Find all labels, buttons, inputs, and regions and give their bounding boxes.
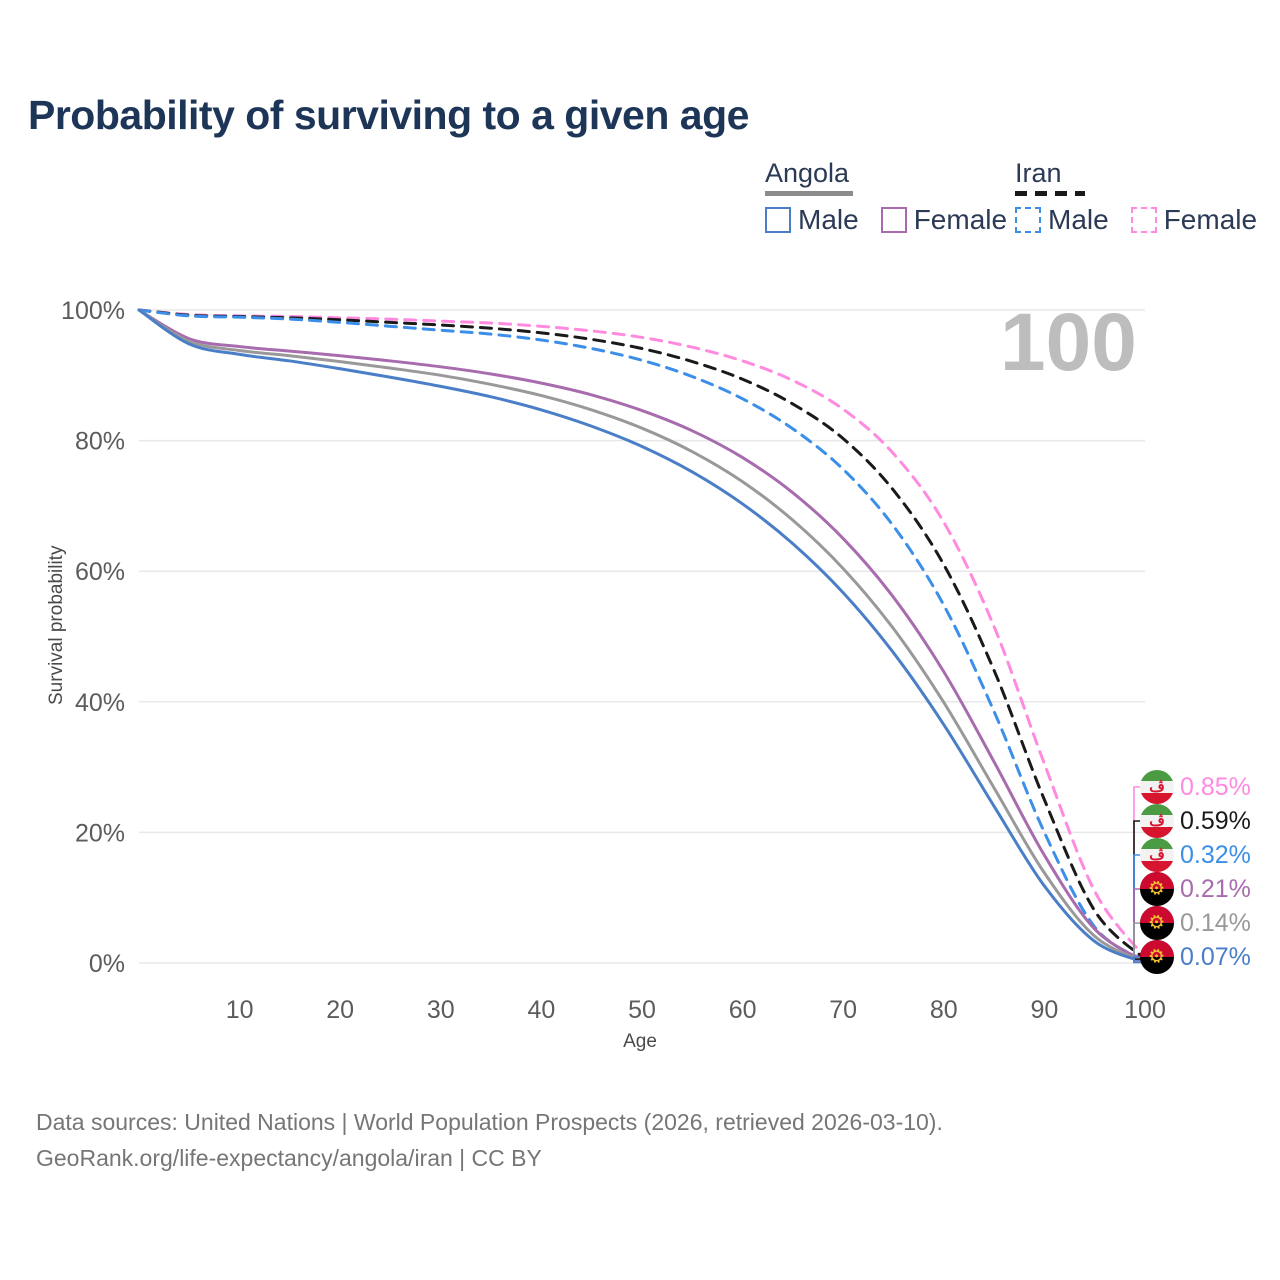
series-end-label[interactable]: ⚙0.21% — [1140, 872, 1251, 906]
footer-data-sources: Data sources: United Nations | World Pop… — [36, 1105, 943, 1141]
iran-flag-icon: ڤ — [1140, 804, 1174, 838]
angola-flag-icon: ⚙ — [1140, 872, 1174, 906]
series-line — [139, 310, 1145, 961]
x-tick-label: 80 — [930, 996, 958, 1024]
series-line — [139, 310, 1145, 962]
series-end-value: 0.14% — [1180, 911, 1251, 936]
series-end-label[interactable]: ڤ0.85% — [1140, 770, 1251, 804]
chart-svg: 0%20%40%60%80%100% 102030405060708090100… — [0, 0, 1280, 1280]
y-tick-label: 60% — [75, 558, 125, 586]
series-end-value: 0.21% — [1180, 877, 1251, 902]
chart-plot-area: 0%20%40%60%80%100% 102030405060708090100… — [0, 0, 1280, 1280]
series-line — [139, 310, 1145, 962]
x-tick-label: 30 — [427, 996, 455, 1024]
y-tick-label: 80% — [75, 428, 125, 456]
series-end-value: 0.85% — [1180, 775, 1251, 800]
angola-flag-icon: ⚙ — [1140, 940, 1174, 974]
y-axis-tick-labels: 0%20%40%60%80%100% — [61, 297, 125, 978]
chart-gridlines — [139, 310, 1145, 963]
y-tick-label: 100% — [61, 297, 125, 325]
angola-flag-icon: ⚙ — [1140, 906, 1174, 940]
age-watermark: 100 — [1000, 297, 1137, 388]
x-axis-tick-labels: 102030405060708090100 — [226, 996, 1166, 1024]
x-tick-label: 40 — [527, 996, 555, 1024]
footer-attribution: GeoRank.org/life-expectancy/angola/iran … — [36, 1141, 943, 1177]
y-tick-label: 40% — [75, 689, 125, 717]
chart-footer: Data sources: United Nations | World Pop… — [36, 1105, 943, 1176]
iran-flag-icon: ڤ — [1140, 838, 1174, 872]
series-line — [139, 310, 1145, 957]
y-tick-label: 0% — [89, 950, 125, 978]
series-end-label[interactable]: ⚙0.07% — [1140, 940, 1251, 974]
series-end-label[interactable]: ڤ0.59% — [1140, 804, 1251, 838]
series-end-value: 0.59% — [1180, 809, 1251, 834]
x-tick-label: 60 — [729, 996, 757, 1024]
y-tick-label: 20% — [75, 819, 125, 847]
x-tick-label: 70 — [829, 996, 857, 1024]
series-end-value: 0.07% — [1180, 945, 1251, 970]
series-end-label[interactable]: ڤ0.32% — [1140, 838, 1251, 872]
series-end-label[interactable]: ⚙0.14% — [1140, 906, 1251, 940]
x-axis-title: Age — [623, 1031, 657, 1052]
chart-series-lines — [139, 310, 1145, 963]
iran-flag-icon: ڤ — [1140, 770, 1174, 804]
x-tick-label: 100 — [1124, 996, 1166, 1024]
x-tick-label: 50 — [628, 996, 656, 1024]
x-tick-label: 10 — [226, 996, 254, 1024]
series-line — [139, 310, 1145, 959]
series-line — [139, 310, 1145, 963]
y-axis-title: Survival probability — [46, 545, 67, 705]
x-tick-label: 90 — [1030, 996, 1058, 1024]
series-end-value: 0.32% — [1180, 843, 1251, 868]
x-tick-label: 20 — [326, 996, 354, 1024]
